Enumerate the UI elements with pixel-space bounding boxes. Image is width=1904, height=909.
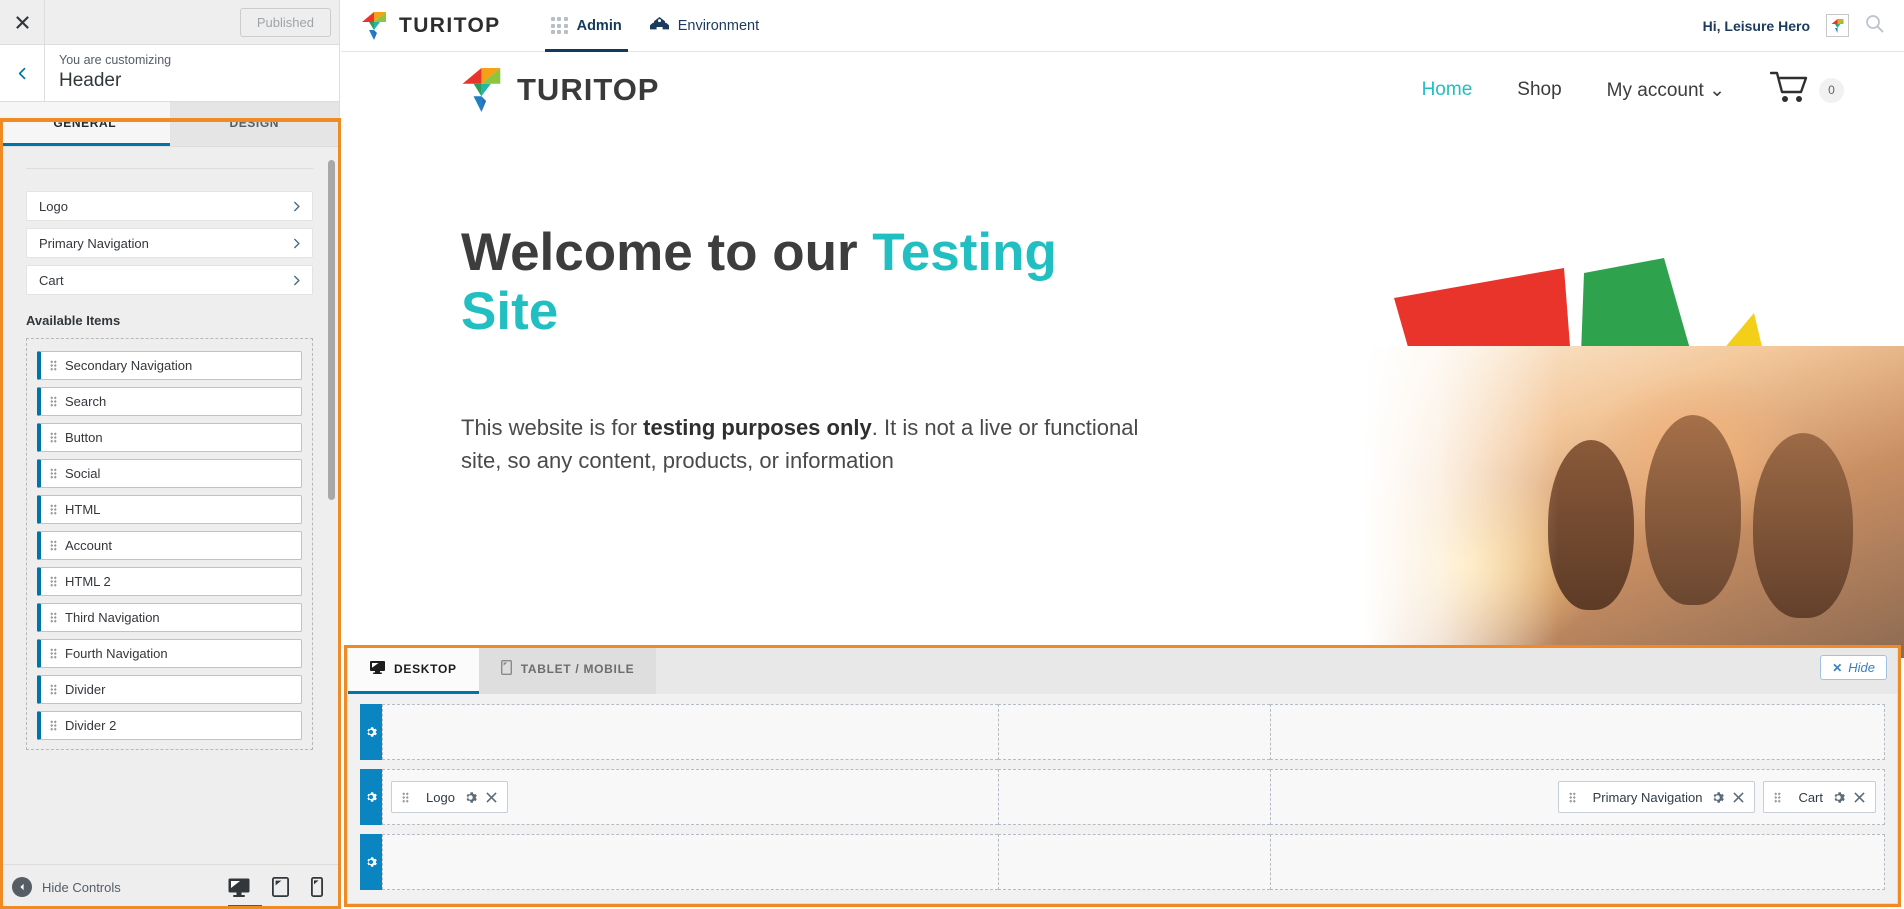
customizing-kicker: You are customizing [59,52,339,68]
list-item[interactable]: Secondary Navigation [37,351,302,380]
hero-subtext-pre: This website is for [461,415,643,440]
drag-handle-icon[interactable] [50,540,57,551]
device-preview-switcher [228,877,329,897]
sidebar-item-label: Primary Navigation [39,236,149,251]
builder-tabbar: DESKTOP TABLET / MOBILE ✕ Hide [348,646,1897,694]
drag-handle-icon[interactable] [50,720,57,731]
cart-count-badge: 0 [1819,78,1844,103]
chevron-right-icon [291,275,302,286]
list-item-label: HTML [65,502,100,517]
tablet-icon[interactable] [272,877,289,897]
list-item-label: Search [65,394,106,409]
customizer-body: GENERAL DESIGN Logo Primary Navigation [0,102,339,909]
gear-icon[interactable] [360,769,382,825]
list-item[interactable]: HTML 2 [37,567,302,596]
gear-icon[interactable] [1832,791,1845,804]
builder-row-main: Logo Primary Navig [360,769,1885,825]
sidebar-scrollbar[interactable] [328,160,335,500]
drag-handle-icon[interactable] [50,432,57,443]
chevron-right-icon [291,201,302,212]
tab-environment[interactable]: Environment [636,0,773,52]
tab-environment-label: Environment [678,18,759,34]
builder-col-right[interactable]: Primary Navigation Cart [1270,769,1885,825]
cart-icon [1770,71,1810,109]
builder-columns [382,704,1885,760]
drag-handle-icon[interactable] [1569,792,1576,803]
hero-photo [1364,346,1904,658]
collapse-icon [12,877,32,897]
list-item[interactable]: Third Navigation [37,603,302,632]
close-icon[interactable] [1854,792,1865,803]
drag-handle-icon[interactable] [50,648,57,659]
admin-bar: TURITOP Admin Environment [341,0,1904,52]
sidebar-item-cart[interactable]: Cart [26,265,313,295]
drag-handle-icon[interactable] [50,576,57,587]
drag-handle-icon[interactable] [50,504,57,515]
admin-nav: Admin Environment [537,0,774,52]
admin-brand-label: TURITOP [399,14,501,38]
list-item-label: Fourth Navigation [65,646,168,661]
list-item[interactable]: Account [37,531,302,560]
desktop-icon [370,661,385,677]
mobile-icon[interactable] [311,877,323,897]
hero-subtext: This website is for testing purposes onl… [461,411,1181,477]
admin-brand[interactable]: TURITOP [361,11,501,41]
builder-columns [382,834,1885,890]
list-item[interactable]: Divider 2 [37,711,302,740]
environment-icon [650,16,669,35]
gear-icon[interactable] [360,704,382,760]
drag-handle-icon[interactable] [50,468,57,479]
preview-primary-nav: Home Shop My account ⌄ 0 [1422,71,1844,109]
turitop-logo-icon [461,66,505,114]
list-item-label: Social [65,466,100,481]
hide-builder-button[interactable]: ✕ Hide [1820,655,1887,680]
drag-handle-icon[interactable] [50,396,57,407]
divider [26,168,313,169]
page-title: Header [59,69,339,93]
admin-user-area: Hi, Leisure Hero [1703,14,1884,38]
hero-heading-plain: Welcome to our [461,223,872,282]
hero-subtext-bold: testing purposes only [643,415,872,440]
gear-icon[interactable] [360,834,382,890]
builder-col-middle[interactable] [998,704,1270,760]
list-item[interactable]: Fourth Navigation [37,639,302,668]
tab-design[interactable]: DESIGN [170,102,340,146]
customizer-footer: Hide Controls [0,864,339,909]
drag-handle-icon[interactable] [402,792,409,803]
tab-desktop-label: DESKTOP [394,662,457,676]
builder-columns: Logo Primary Navig [382,769,1885,825]
customizer-topbar: Published [0,0,339,45]
list-item[interactable]: HTML [37,495,302,524]
tab-tablet-mobile-label: TABLET / MOBILE [521,662,635,676]
drag-handle-icon[interactable] [50,684,57,695]
publish-area: Published [45,0,339,44]
available-items-title: Available Items [26,313,313,328]
builder-row-bottom [360,834,1885,890]
list-item-label: HTML 2 [65,574,111,589]
gear-icon[interactable] [1711,791,1724,804]
drag-handle-icon[interactable] [50,360,57,371]
builder-col-left[interactable] [382,834,998,890]
hide-controls-button[interactable]: Hide Controls [12,877,121,897]
builder-chip-label: Logo [426,790,455,805]
list-item[interactable]: Search [37,387,302,416]
tab-desktop[interactable]: DESKTOP [348,646,479,694]
nav-link-my-account-label: My account [1607,80,1704,101]
builder-col-middle[interactable] [998,769,1270,825]
preview-logo[interactable]: TURITOP [461,66,660,114]
cart-button[interactable]: 0 [1770,71,1844,109]
customizing-header-text: You are customizing Header [45,45,339,101]
close-icon[interactable] [486,792,497,803]
builder-col-right[interactable] [1270,704,1885,760]
nav-link-home[interactable]: Home [1422,79,1473,101]
drag-handle-icon[interactable] [1774,792,1781,803]
close-icon: ✕ [1832,661,1842,675]
hero-heading: Welcome to our Testing Site [461,223,1161,342]
builder-col-left[interactable] [382,704,998,760]
hero-photo-fade [1364,346,1904,658]
list-item-label: Account [65,538,112,553]
app-root: Published You are customizing Header GEN… [0,0,1904,909]
builder-rows: Logo Primary Navig [348,694,1897,909]
sidebar-item-label: Logo [39,199,68,214]
customizer-scroll-area: Logo Primary Navigation Cart [0,148,339,864]
sidebar-item-logo[interactable]: Logo [26,191,313,221]
builder-chip-cart[interactable]: Cart [1763,781,1876,813]
list-item-label: Divider 2 [65,718,116,733]
chevron-left-icon[interactable] [0,45,45,101]
list-item-label: Third Navigation [65,610,160,625]
gear-icon[interactable] [464,791,477,804]
tab-tablet-mobile[interactable]: TABLET / MOBILE [479,646,657,694]
search-icon[interactable] [1865,14,1884,38]
drag-handle-icon[interactable] [50,612,57,623]
sidebar-item-primary-navigation[interactable]: Primary Navigation [26,228,313,258]
builder-chip-label: Cart [1798,790,1823,805]
chevron-right-icon [291,238,302,249]
preview-hero: Welcome to our Testing Site This website… [341,128,1904,658]
hide-builder-label: Hide [1848,660,1875,675]
customizer-panel: Published You are customizing Header GEN… [0,0,340,909]
builder-chip-logo[interactable]: Logo [391,781,508,813]
nav-link-shop[interactable]: Shop [1517,79,1561,101]
header-builder-panel: DESKTOP TABLET / MOBILE ✕ Hide [347,645,1898,904]
builder-row-top [360,704,1885,760]
avatar[interactable] [1826,14,1849,37]
list-item[interactable]: Button [37,423,302,452]
greeting-label: Hi, Leisure Hero [1703,18,1810,34]
builder-col-right[interactable] [1270,834,1885,890]
sidebar-item-label: Cart [39,273,64,288]
customizer-section-header: You are customizing Header [0,45,339,102]
close-icon[interactable] [1733,792,1744,803]
tab-admin[interactable]: Admin [537,0,636,52]
tab-admin-label: Admin [577,18,622,34]
builder-col-left[interactable]: Logo [382,769,998,825]
tab-general[interactable]: GENERAL [0,102,170,146]
desktop-active-indicator [228,905,262,909]
available-items-dropzone[interactable]: Secondary Navigation Search Button Socia… [26,338,313,750]
customizer-tabs: GENERAL DESIGN [0,102,339,147]
list-item[interactable]: Divider [37,675,302,704]
turitop-logo-icon [361,11,389,41]
desktop-icon[interactable] [228,878,250,897]
nav-link-my-account[interactable]: My account ⌄ [1607,79,1725,102]
list-item-label: Secondary Navigation [65,358,192,373]
close-icon[interactable] [0,0,45,44]
list-item-label: Button [65,430,103,445]
publish-button[interactable]: Published [240,8,331,37]
list-item[interactable]: Social [37,459,302,488]
hero-artwork [1364,128,1904,658]
grid-apps-icon [551,17,568,34]
builder-col-middle[interactable] [998,834,1270,890]
tablet-icon [501,660,512,678]
preview-logo-label: TURITOP [517,72,660,108]
builder-chip-label: Primary Navigation [1593,790,1703,805]
hide-controls-label: Hide Controls [42,880,121,895]
preview-site-header: TURITOP Home Shop My account ⌄ [341,52,1904,128]
list-item-label: Divider [65,682,105,697]
builder-chip-primary-navigation[interactable]: Primary Navigation [1558,781,1756,813]
chevron-down-icon: ⌄ [1709,80,1725,101]
